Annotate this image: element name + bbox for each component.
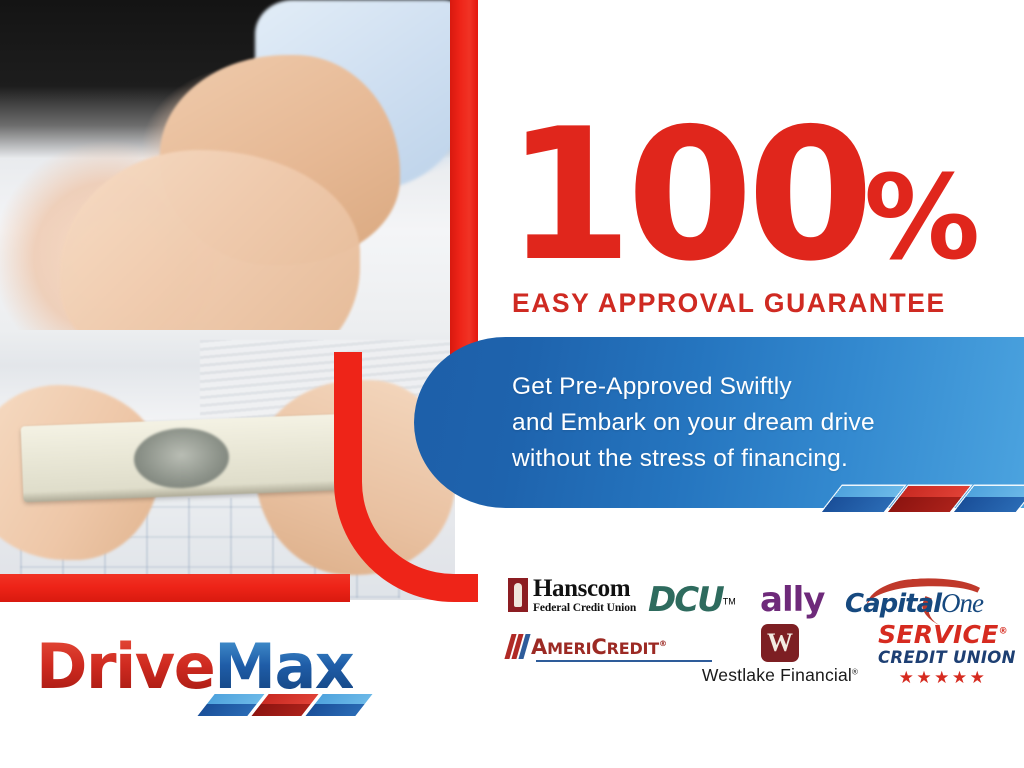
promo-banner-root: 100% EASY APPROVAL GUARANTEE Get Pre-App… <box>0 0 1024 768</box>
lender-logo-westlake[interactable]: W Westlake Financial® <box>700 624 860 686</box>
westlake-badge-letter: W <box>767 630 793 656</box>
handshake-photo-region <box>0 0 455 330</box>
americredit-name: AMERICREDIT® <box>531 635 667 659</box>
page-headline: 100% <box>506 104 980 286</box>
westlake-badge-icon: W <box>761 624 799 662</box>
promo-message-banner: Get Pre-Approved Swiftly and Embark on y… <box>414 337 1024 508</box>
service-registered: ® <box>999 627 1008 637</box>
logo-text-drive: Drive <box>36 630 214 703</box>
americredit-slashes-icon <box>504 634 530 659</box>
dcu-trademark: TM <box>723 597 736 607</box>
lender-logo-ally[interactable]: ally <box>760 580 824 620</box>
bill-portrait <box>133 426 230 490</box>
headline-subtitle: EASY APPROVAL GUARANTEE <box>512 288 946 319</box>
lender-logos-group: Hanscom Federal Credit Union DCUTM ally … <box>500 568 1010 698</box>
hanscom-emblem-icon <box>508 578 528 612</box>
drivemax-logo[interactable]: DriveMax <box>36 636 353 698</box>
americredit-underline <box>536 660 712 662</box>
americredit-c: C <box>591 635 606 659</box>
service-stars-icon: ★★★★★ <box>878 668 1008 688</box>
red-frame-horizontal <box>0 574 350 602</box>
service-word: SERVICE <box>878 620 999 649</box>
hundred-dollar-bill <box>21 414 354 503</box>
chevron-motif-banner <box>832 486 1024 512</box>
capital-one-name-second: One <box>941 588 983 618</box>
promo-line-1: Get Pre-Approved Swiftly <box>512 369 875 405</box>
capital-one-name: Capital <box>845 589 941 619</box>
logo-text-max: Max <box>214 630 353 703</box>
hanscom-name: Hanscom <box>533 576 636 601</box>
lender-logo-dcu[interactable]: DCUTM <box>648 580 736 620</box>
westlake-name: Westlake Financial <box>702 665 852 685</box>
dcu-name: DCU <box>648 580 723 620</box>
lender-logo-hanscom[interactable]: Hanscom Federal Credit Union <box>508 576 636 615</box>
americredit-meri: MERI <box>547 639 591 658</box>
hanscom-subtitle: Federal Credit Union <box>533 603 636 615</box>
promo-line-3: without the stress of financing. <box>512 441 875 477</box>
service-subtitle: CREDIT UNION <box>878 648 1008 668</box>
westlake-registered: ® <box>852 668 858 677</box>
lender-logo-capital-one[interactable]: CapitalOne <box>845 582 983 619</box>
americredit-registered: ® <box>659 639 667 648</box>
lender-logo-service-credit-union[interactable]: SERVICE® CREDIT UNION ★★★★★ <box>878 622 1008 688</box>
service-name: SERVICE® <box>878 622 1008 648</box>
promo-line-2: and Embark on your dream drive <box>512 405 875 441</box>
americredit-a: A <box>531 635 547 659</box>
headline-number: 100 <box>506 89 868 301</box>
lender-logo-americredit[interactable]: AMERICREDIT® <box>508 634 667 659</box>
americredit-redit: REDIT <box>607 639 659 658</box>
promo-message-text: Get Pre-Approved Swiftly and Embark on y… <box>512 369 875 477</box>
ally-name: ally <box>760 580 824 620</box>
headline-percent-sign: % <box>864 151 980 286</box>
